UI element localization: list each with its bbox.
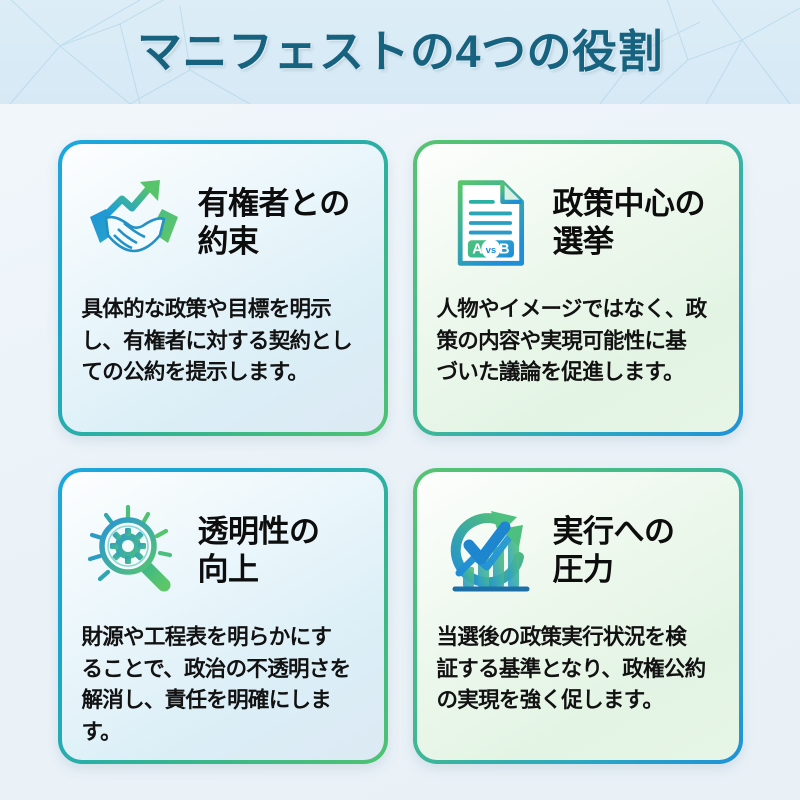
card-header: 実行への 圧力: [437, 492, 719, 610]
page-header: マニフェストの4つの役割: [0, 0, 800, 104]
card-transparency-improvement[interactable]: 透明性の 向上 財源や工程表を明らかにす ることで、政治の不透明さを 解消し、責…: [58, 468, 388, 764]
badge-letter-b: B: [499, 242, 509, 258]
card-execution-pressure[interactable]: 実行への 圧力 当選後の政策実行状況を検 証する基準となり、政権公約 の実現を強…: [413, 468, 743, 764]
card-content: 有権者との 約束 具体的な政策や目標を明示 し、有権者に対する契約とし ての公約…: [62, 144, 384, 432]
card-content: 実行への 圧力 当選後の政策実行状況を検 証する基準となり、政権公約 の実現を強…: [417, 472, 739, 760]
card-voter-promise[interactable]: 有権者との 約束 具体的な政策や目標を明示 し、有権者に対する契約とし ての公約…: [58, 140, 388, 436]
card-title: 政策中心の 選挙: [553, 185, 706, 261]
infographic-page: マニフェストの4つの役割: [0, 0, 800, 800]
card-header: 透明性の 向上: [82, 492, 364, 610]
card-header: A vs B 政策中心の 選挙: [437, 164, 719, 282]
card-header: 有権者との 約束: [82, 164, 364, 282]
card-body-text: 当選後の政策実行状況を検 証する基準となり、政権公約 の実現を強く促します。: [437, 622, 719, 717]
card-body-text: 人物やイメージではなく、政 策の内容や実現可能性に基 づいた議論を促進します。: [437, 294, 719, 389]
card-policy-centered-election[interactable]: A vs B 政策中心の 選挙 人物やイメージではなく、政 策の内容や実現可能性…: [413, 140, 743, 436]
badge-vs-label: vs: [485, 245, 496, 256]
card-title: 透明性の 向上: [198, 513, 320, 589]
card-body-text: 財源や工程表を明らかにす ることで、政治の不透明さを 解消し、責任を明確にします…: [82, 622, 364, 748]
document-a-vs-b-icon: A vs B: [437, 171, 541, 275]
page-title: マニフェストの4つの役割: [0, 0, 800, 104]
card-content: A vs B 政策中心の 選挙 人物やイメージではなく、政 策の内容や実現可能性…: [417, 144, 739, 432]
card-title: 実行への 圧力: [553, 513, 675, 589]
card-title: 有権者との 約束: [198, 185, 350, 261]
handshake-growth-icon: [82, 171, 186, 275]
badge-letter-a: A: [472, 242, 483, 258]
growth-chart-check-icon: [437, 499, 541, 603]
magnifier-gear-icon: [82, 499, 186, 603]
card-content: 透明性の 向上 財源や工程表を明らかにす ることで、政治の不透明さを 解消し、責…: [62, 472, 384, 760]
cards-grid: 有権者との 約束 具体的な政策や目標を明示 し、有権者に対する契約とし ての公約…: [0, 104, 800, 800]
card-body-text: 具体的な政策や目標を明示 し、有権者に対する契約とし ての公約を提示します。: [82, 294, 364, 389]
